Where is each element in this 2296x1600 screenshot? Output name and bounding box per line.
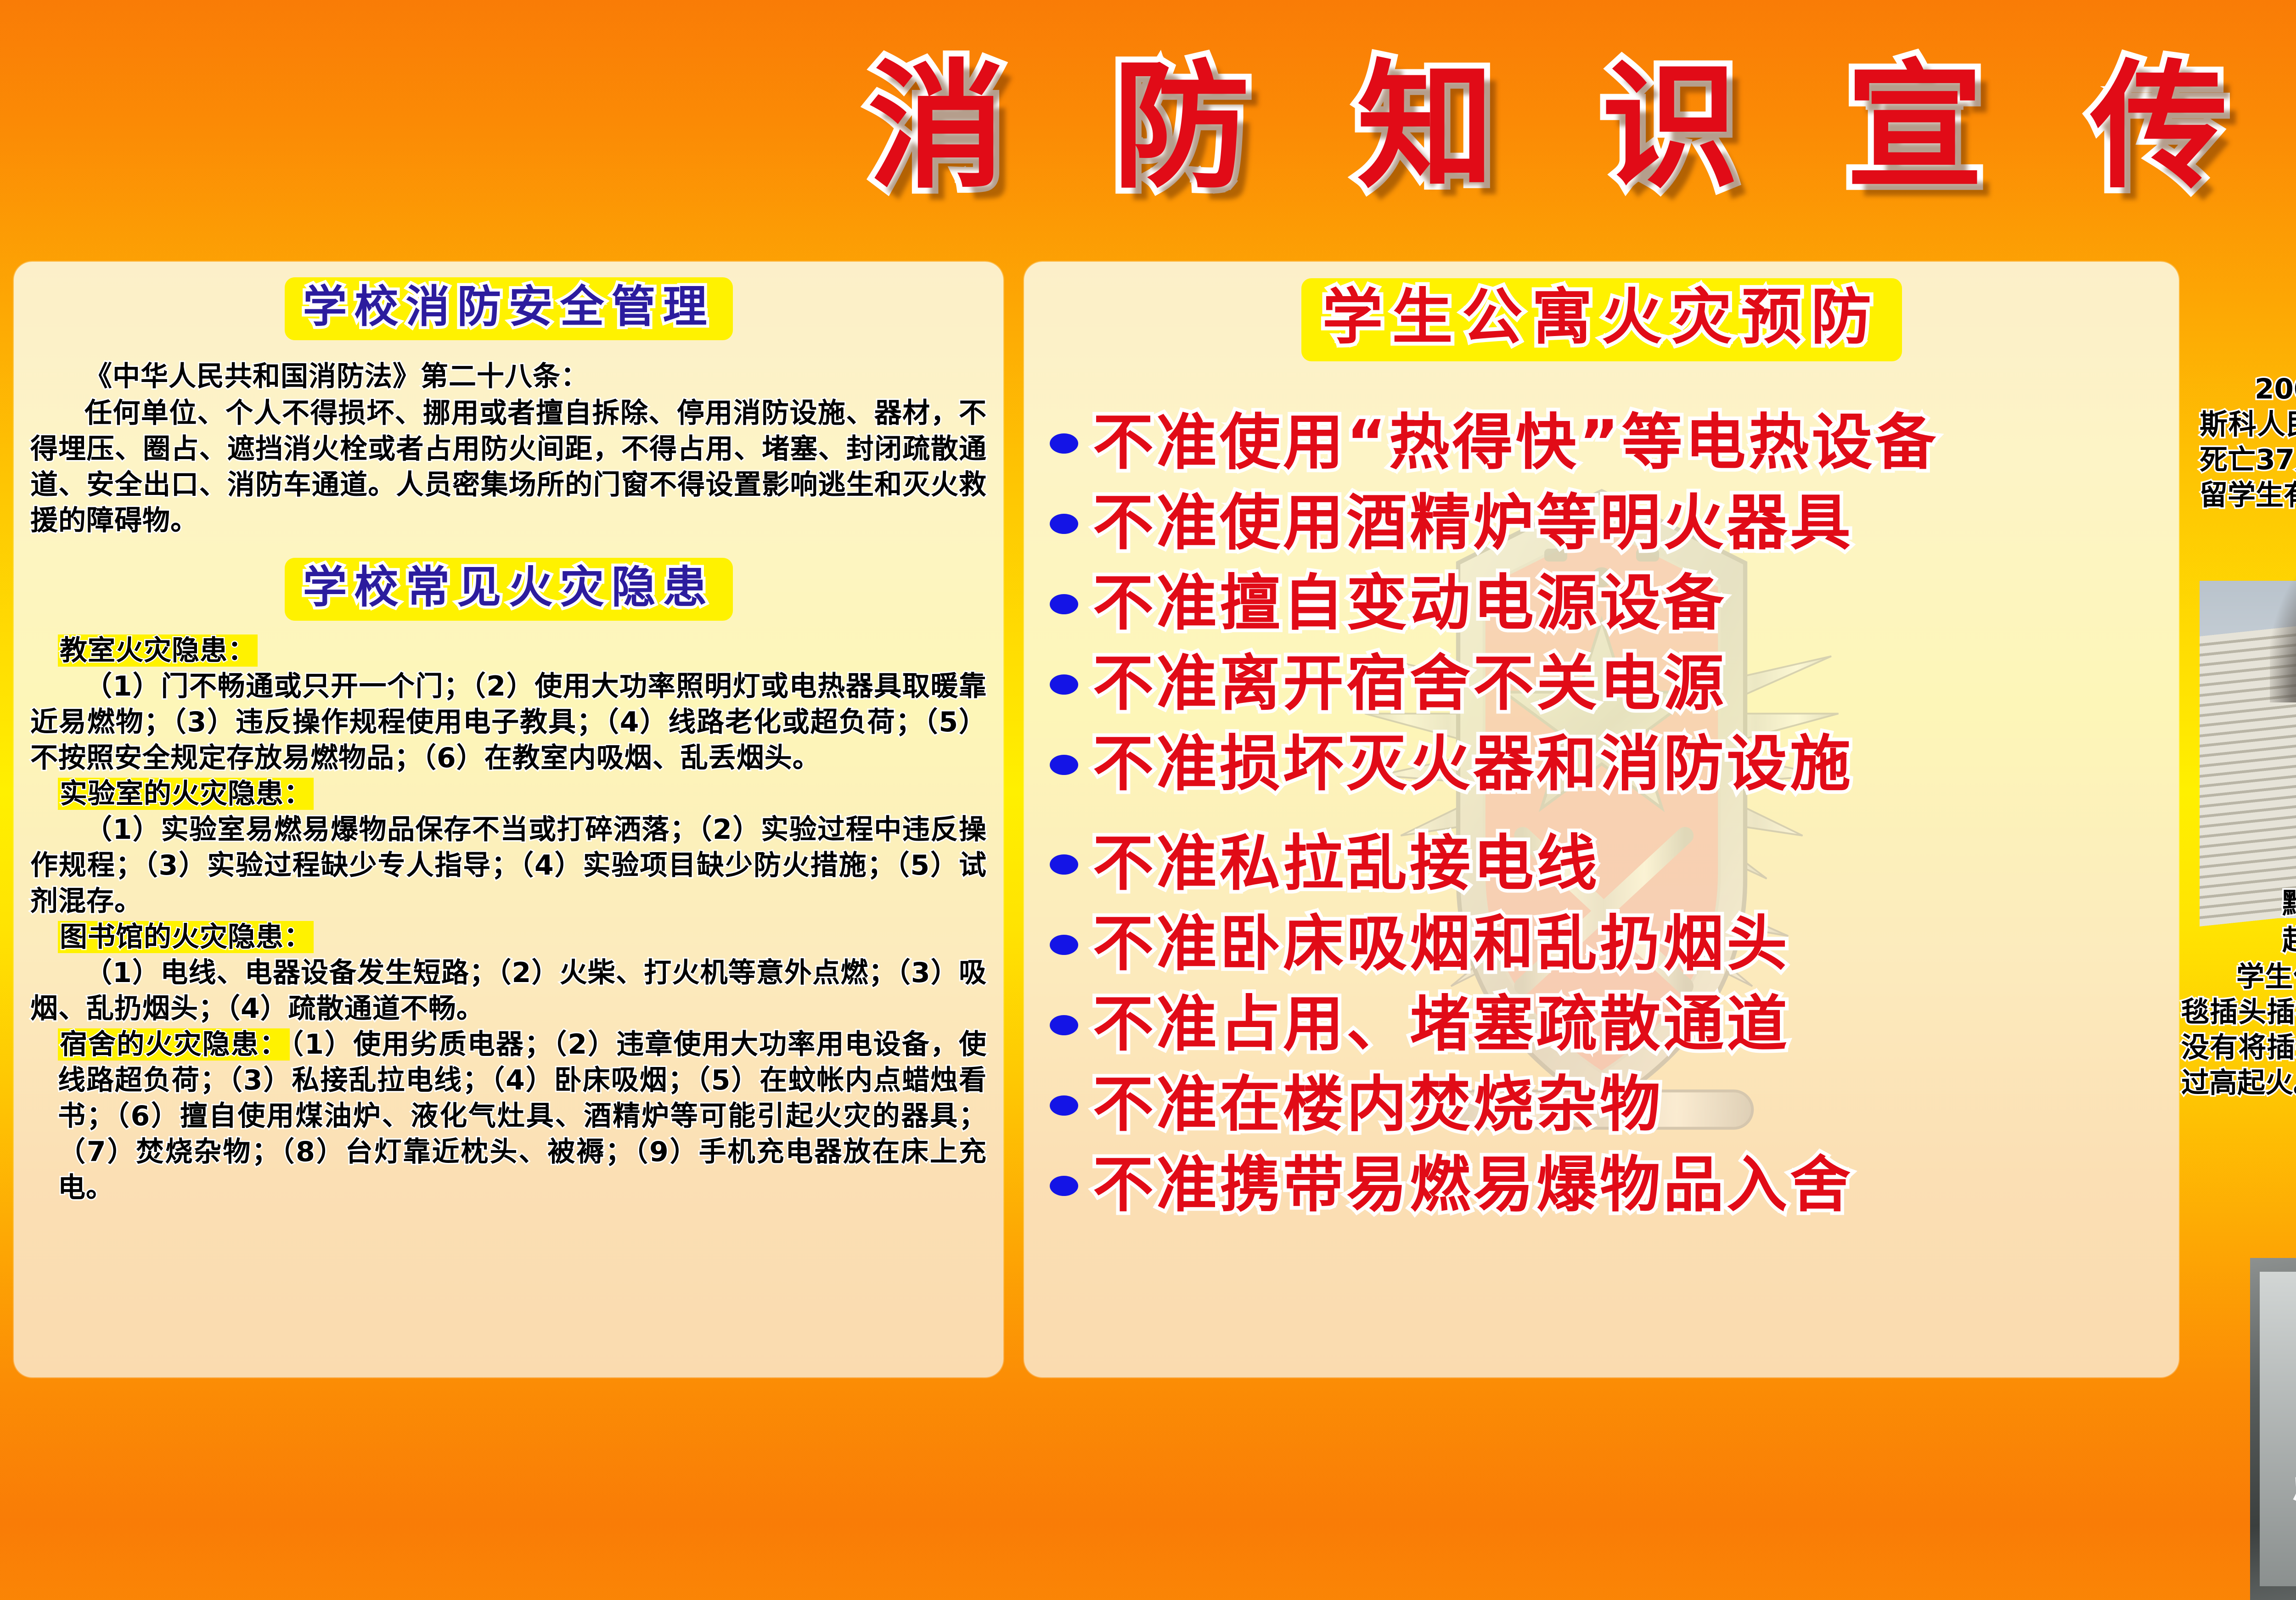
photo-shanghai-dormitory-fire: [2200, 581, 2296, 918]
center-panel: 学生公寓火灾预防 不准使用“热得快”等电热设备 不准使用酒精炉等明火器具 不准擅…: [1024, 262, 2179, 1377]
hazard-body-classroom: （1）门不畅通或只开一个门；（2）使用大功率照明灯或电热器具取暖靠近易燃物；（3…: [30, 668, 987, 776]
list-item: 不准使用“热得快”等电热设备: [1050, 404, 2163, 482]
bullet-icon: [1050, 935, 1078, 955]
hazard-block-classroom: 教室火灾隐患： （1）门不畅通或只开一个门；（2）使用大功率照明灯或电热器具取暖…: [30, 633, 987, 776]
hazard-label-library: 图书馆的火灾隐患：: [58, 921, 314, 953]
rule-label: 不准使用“热得快”等电热设备: [1093, 404, 1939, 482]
fire-prevention-rules-list: 不准使用“热得快”等电热设备 不准使用酒精炉等明火器具 不准擅自变动电源设备 不…: [1024, 404, 2179, 1227]
rule-label: 不准损坏灭火器和消防设施: [1093, 725, 1853, 803]
rule-label: 不准占用、堵塞疏散通道: [1093, 986, 1790, 1063]
hazard-body-laboratory: （1）实验室易燃易爆物品保存不当或打碎洒落；（2）实验过程中违反操作规程；（3）…: [30, 812, 987, 919]
bullet-icon: [1050, 674, 1078, 695]
rule-label: 不准使用酒精炉等明火器具: [1093, 484, 1853, 562]
section-title-student-dorm-fire-prevention: 学生公寓火灾预防: [1301, 278, 1902, 361]
hazard-label-classroom: 教室火灾隐患：: [58, 634, 258, 667]
left-panel-section1-header: 学校消防安全管理: [30, 277, 987, 340]
bullet-icon: [1050, 755, 1078, 775]
bullet-icon: [1050, 514, 1078, 534]
bullet-icon: [1050, 1095, 1078, 1116]
incident-text-qiannan: 学生使用电热毯温度过高引进起。电热毯插头插在电源插座上，寒假学生回家后，没有将插…: [2181, 960, 2296, 1100]
hazard-block-library: 图书馆的火灾隐患： （1）电线、电器设备发生短路；（2）火柴、打火机等意外点燃；…: [30, 919, 987, 1027]
hazard-block-laboratory: 实验室的火灾隐患： （1）实验室易燃易爆物品保存不当或打碎洒落；（2）实验过程中…: [30, 776, 987, 919]
incident-heading-qiannan: 黔南民族师范学院学生公寓火灾: [2227, 886, 2296, 921]
bullet-icon: [1050, 1015, 1078, 1035]
section-title-school-fire-management: 学校消防安全管理: [285, 277, 733, 340]
footer-credit: 黔南民族师范学院保卫处: [2200, 1430, 2296, 1510]
right-panel-header: 火灾事故: [2227, 257, 2296, 340]
list-item: 不准在楼内焚烧杂物: [1050, 1066, 2163, 1144]
fire-law-body: 任何单位、个人不得损坏、挪用或者擅自拆除、停用消防设施、器材，不得埋压、圈占、遮…: [30, 395, 987, 539]
left-panel: 学校消防安全管理 《中华人民共和国消防法》第二十八条： 任何单位、个人不得损坏、…: [14, 262, 1003, 1377]
rule-label: 不准擅自变动电源设备: [1093, 565, 1727, 642]
hazard-label-dormitory: 宿舍的火灾隐患：: [58, 1028, 290, 1061]
hazard-label-laboratory: 实验室的火灾隐患：: [58, 778, 314, 810]
list-item: 不准私拉乱接电线: [1050, 825, 2163, 903]
hazard-body-library: （1）电线、电器设备发生短路；（2）火柴、打火机等意外点燃；（3）吸烟、乱扔烟头…: [30, 955, 987, 1027]
right-panel: 火灾事故 2003年11月24日凌晨在俄罗斯莫斯科人民友谊大学学生宿舍发生的火灾…: [2200, 257, 2296, 1432]
bullet-icon: [1050, 1176, 1078, 1196]
list-item: 不准损坏灭火器和消防设施: [1050, 725, 2163, 803]
rule-label: 不准私拉乱接电线: [1093, 825, 1600, 903]
section-title-common-school-hazards: 学校常见火灾隐患: [285, 558, 733, 621]
rule-label: 不准离开宿舍不关电源: [1093, 645, 1727, 723]
list-item: 不准离开宿舍不关电源: [1050, 645, 2163, 723]
page-title: 消 防 知 识 宣 传: [0, 0, 2296, 230]
left-panel-section2-header: 学校常见火灾隐患: [30, 558, 987, 621]
incident-text-moscow: 2003年11月24日凌晨在俄罗斯莫斯科人民友谊大学学生宿舍发生的火灾，死亡37…: [2200, 372, 2296, 513]
rule-label: 不准携带易燃易爆物品入舍: [1093, 1146, 1853, 1224]
list-item: 不准携带易燃易爆物品入舍: [1050, 1146, 2163, 1224]
bullet-icon: [1050, 594, 1078, 614]
center-panel-header: 学生公寓火灾预防: [1024, 278, 2179, 361]
list-item: 不准使用酒精炉等明火器具: [1050, 484, 2163, 562]
incident-subheading-qiannan: 起火原因：: [2227, 923, 2296, 958]
rule-label: 不准卧床吸烟和乱扔烟头: [1093, 905, 1790, 983]
list-item: 不准擅自变动电源设备: [1050, 565, 2163, 642]
photo-burned-corridor: [2250, 1258, 2296, 1600]
bullet-icon: [1050, 854, 1078, 875]
fire-law-heading: 《中华人民共和国消防法》第二十八条：: [30, 359, 987, 394]
list-item: 不准卧床吸烟和乱扔烟头: [1050, 905, 2163, 983]
list-item: 不准占用、堵塞疏散通道: [1050, 986, 2163, 1063]
bullet-icon: [1050, 433, 1078, 454]
hazard-block-dormitory: 宿舍的火灾隐患：（1）使用劣质电器；（2）违章使用大功率用电设备，使线路超负荷；…: [30, 1027, 987, 1206]
rule-label: 不准在楼内焚烧杂物: [1093, 1066, 1663, 1144]
